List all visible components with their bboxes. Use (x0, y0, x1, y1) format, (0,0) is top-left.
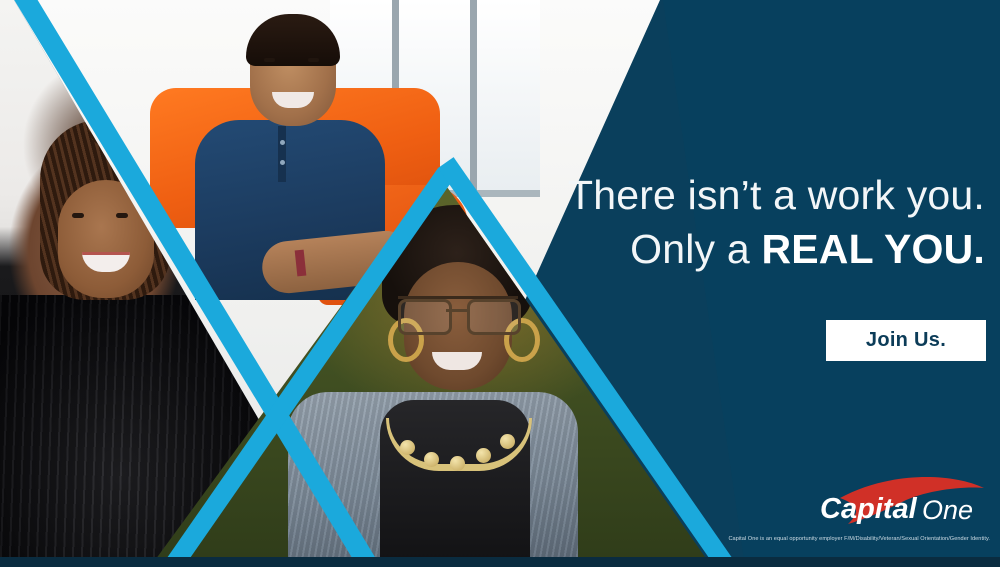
legal-disclaimer: Capital One is an equal opportunity empl… (700, 536, 990, 544)
bottom-navy-strip (0, 557, 1000, 567)
eye-right (308, 58, 319, 62)
necklace-bead-1 (400, 440, 415, 455)
capital-one-recruiting-banner: There isn’t a work you. Only a REAL YOU.… (0, 0, 1000, 567)
window-mullion-2 (470, 0, 477, 190)
eyeglass-bridge (446, 309, 467, 312)
headline-line-1: There isn’t a work you. (525, 168, 985, 222)
headline-line-2: Only a REAL YOU. (525, 222, 985, 276)
necklace-bead-2 (424, 452, 439, 467)
necklace-bead-3 (450, 456, 465, 471)
headline-line-2-emphasis: REAL YOU. (761, 226, 985, 272)
necklace-bead-5 (500, 434, 515, 449)
polo-button-1 (280, 140, 285, 145)
logo-text-capital: Capital (820, 493, 918, 525)
join-us-button[interactable]: Join Us. (826, 320, 986, 361)
hair (246, 14, 340, 66)
capital-one-logo[interactable]: Capital One (818, 474, 988, 530)
polo-button-2 (280, 160, 285, 165)
eyeglass-lens-left (398, 299, 452, 335)
polo-placket (278, 126, 286, 182)
necklace-bead-4 (476, 448, 491, 463)
eyeglass-lens-right (467, 299, 521, 335)
headline-block: There isn’t a work you. Only a REAL YOU. (525, 168, 985, 276)
eye-right (116, 213, 128, 218)
headline-line-2-light: Only a (630, 226, 761, 272)
eye-left (72, 213, 84, 218)
eye-left (264, 58, 275, 62)
eyeglasses (398, 296, 518, 329)
logo-text-one: One (922, 495, 973, 525)
